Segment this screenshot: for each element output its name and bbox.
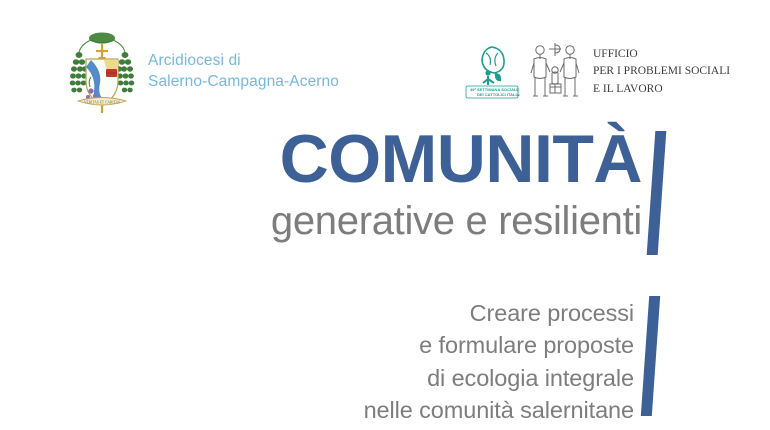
description-line-1: Creare processi — [0, 297, 634, 329]
settimana-sociale-logo: 49ª SETTIMANA SOCIALE DEI CATTOLICI ITAL… — [464, 43, 520, 101]
svg-text:VERITAS ET CARITAS: VERITAS ET CARITAS — [84, 101, 120, 105]
settimana-line2: DEI CATTOLICI ITALIANI — [477, 92, 520, 97]
description-line-2: e formulare proposte — [0, 329, 634, 361]
archdiocese-coat-of-arms: VERITAS ET CARITAS — [66, 29, 138, 115]
archdiocese-name: Arcidiocesi di Salerno-Campagna-Acerno — [148, 51, 339, 93]
logo-row: VERITAS ET CARITAS Arcidiocesi di Salern… — [0, 28, 770, 116]
ufficio-logo-block: 49ª SETTIMANA SOCIALE DEI CATTOLICI ITAL… — [464, 34, 730, 110]
event-poster: VERITAS ET CARITAS Arcidiocesi di Salern… — [0, 0, 770, 430]
description-block: Creare processi e formulare proposte di … — [0, 297, 770, 430]
description-line-3: di ecologia integrale — [0, 362, 634, 394]
settimana-edition: 49ª — [470, 87, 476, 92]
archdiocese-line2: Salerno-Campagna-Acerno — [148, 72, 339, 93]
description-line-4: nelle comunità salernitane — [0, 394, 634, 426]
ufficio-line2: PER I PROBLEMI SOCIALI — [593, 63, 730, 80]
ufficio-line3: E IL LAVORO — [593, 81, 730, 98]
archdiocese-line1: Arcidiocesi di — [148, 51, 339, 72]
ufficio-name: UFFICIO PER I PROBLEMI SOCIALI E IL LAVO… — [593, 46, 730, 98]
ufficio-line1: UFFICIO — [593, 46, 730, 63]
ufficio-figures-logo — [526, 39, 584, 105]
archdiocese-logo-block: VERITAS ET CARITAS Arcidiocesi di Salern… — [66, 28, 339, 116]
